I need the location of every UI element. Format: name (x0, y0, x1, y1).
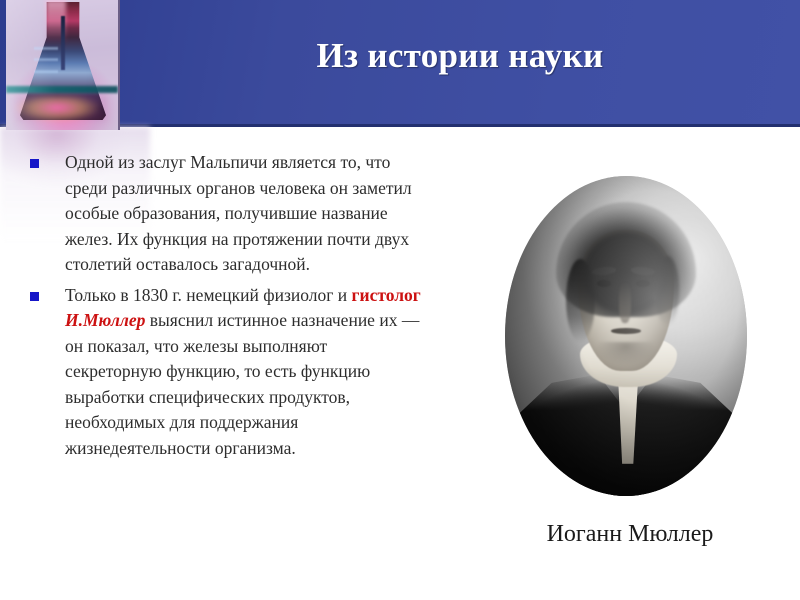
portrait-vignette (505, 176, 747, 496)
bullet-2-run-3: выяснил истинное назначение их — он пока… (65, 310, 419, 458)
flask-stirring-rod (61, 16, 65, 70)
flask-photo (6, 0, 120, 130)
bullet-item-1: Одной из заслуг Мальпичи является то, чт… (22, 150, 422, 278)
bullet-1-run-0: Одной из заслуг Мальпичи является то, чт… (65, 152, 412, 274)
bullet-2-run-0: Только в 1830 г. немецкий физиолог и (65, 285, 352, 305)
bullet-2-run-1-highlight: гистолог (352, 285, 421, 305)
bullet-text-2: Только в 1830 г. немецкий физиолог и гис… (65, 283, 422, 462)
portrait-oval-frame (505, 176, 747, 496)
bullet-square-icon (30, 292, 39, 301)
bullet-text-1: Одной из заслуг Мальпичи является то, чт… (65, 150, 422, 278)
flask-graduation-marks (34, 46, 58, 86)
slide-body-text: Одной из заслуг Мальпичи является то, чт… (22, 150, 422, 466)
flask-base-glow (16, 96, 108, 122)
bullet-item-2: Только в 1830 г. немецкий физиолог и гис… (22, 283, 422, 462)
page-title: Из истории науки (130, 36, 790, 76)
portrait-caption: Иоганн Мюллер (470, 521, 790, 548)
presentation-slide: Из истории науки Одной из заслуг Мальпич… (0, 0, 800, 600)
bullet-2-run-2-highlight-name: И.Мюллер (65, 310, 145, 330)
flask-liquid-line (6, 86, 118, 93)
portrait-image (505, 176, 747, 496)
bullet-square-icon (30, 159, 39, 168)
